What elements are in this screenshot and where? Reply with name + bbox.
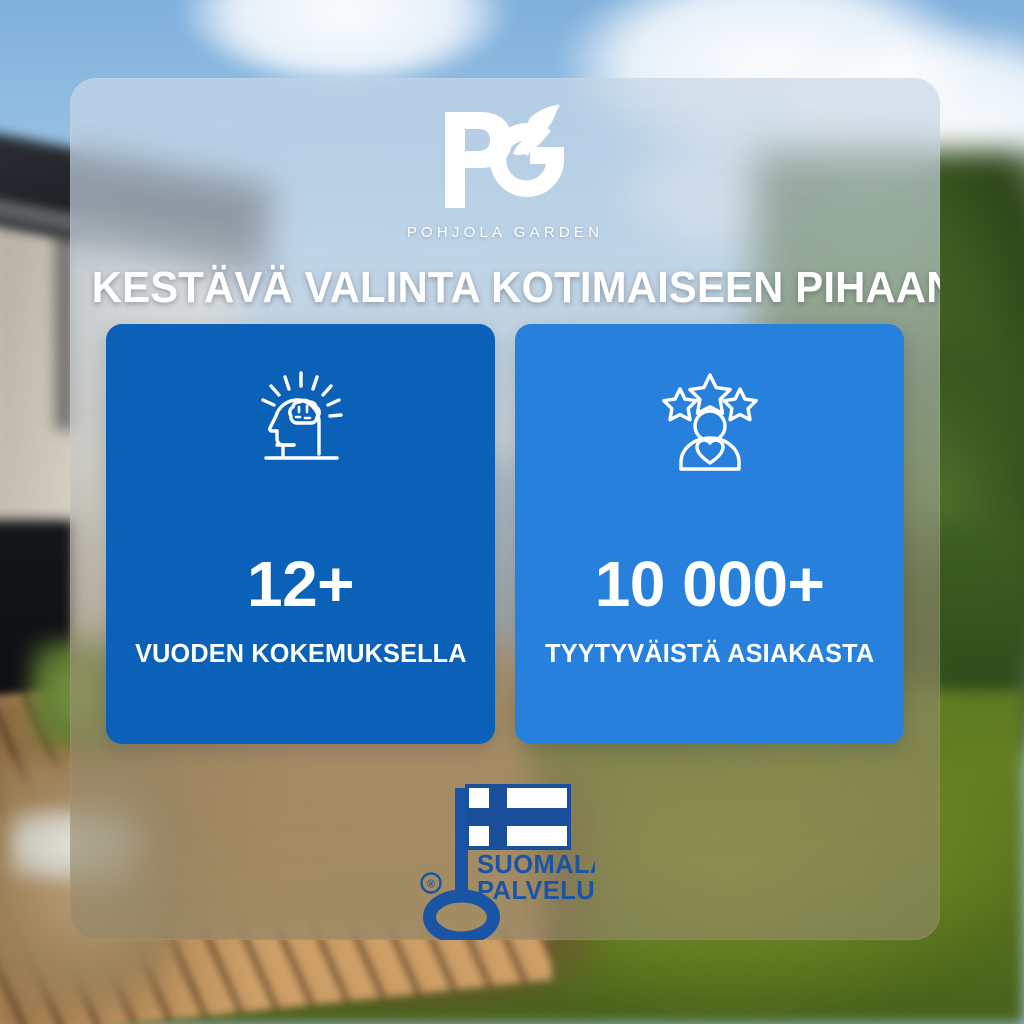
registered-mark-glyph: ® xyxy=(427,879,435,891)
stat-card-experience[interactable]: 12+ VUODEN KOKEMUKSELLA xyxy=(106,324,495,744)
pg-monogram-leaf-icon xyxy=(435,104,575,216)
frosted-glass-panel: POHJOLA GARDEN KESTÄVÄ VALINTA KOTIMAISE… xyxy=(70,78,940,940)
stat-card-group: 12+ VUODEN KOKEMUKSELLA xyxy=(106,324,904,744)
brand-logo: POHJOLA GARDEN xyxy=(70,104,940,241)
avainlippu-certification[interactable]: ® SUOMALAISTA PALVELUA xyxy=(70,770,940,940)
person-with-heart-and-stars-icon xyxy=(658,370,762,474)
stat-value: 10 000+ xyxy=(595,552,825,616)
stat-label: TYYTYVÄISTÄ ASIAKASTA xyxy=(545,638,874,669)
stat-value: 12+ xyxy=(247,552,354,616)
brand-wordmark: POHJOLA GARDEN xyxy=(407,224,603,241)
head-with-brain-icon xyxy=(249,370,353,474)
avainlippu-line2: PALVELUA xyxy=(477,877,595,905)
stat-label: VUODEN KOKEMUKSELLA xyxy=(135,638,467,669)
avainlippu-key-flag-icon: ® SUOMALAISTA PALVELUA xyxy=(415,770,595,940)
avainlippu-line1: SUOMALAISTA xyxy=(477,851,595,879)
page-headline: KESTÄVÄ VALINTA KOTIMAISEEN PIHAAN xyxy=(92,263,919,313)
stat-card-customers[interactable]: 10 000+ TYYTYVÄISTÄ ASIAKASTA xyxy=(515,324,904,744)
